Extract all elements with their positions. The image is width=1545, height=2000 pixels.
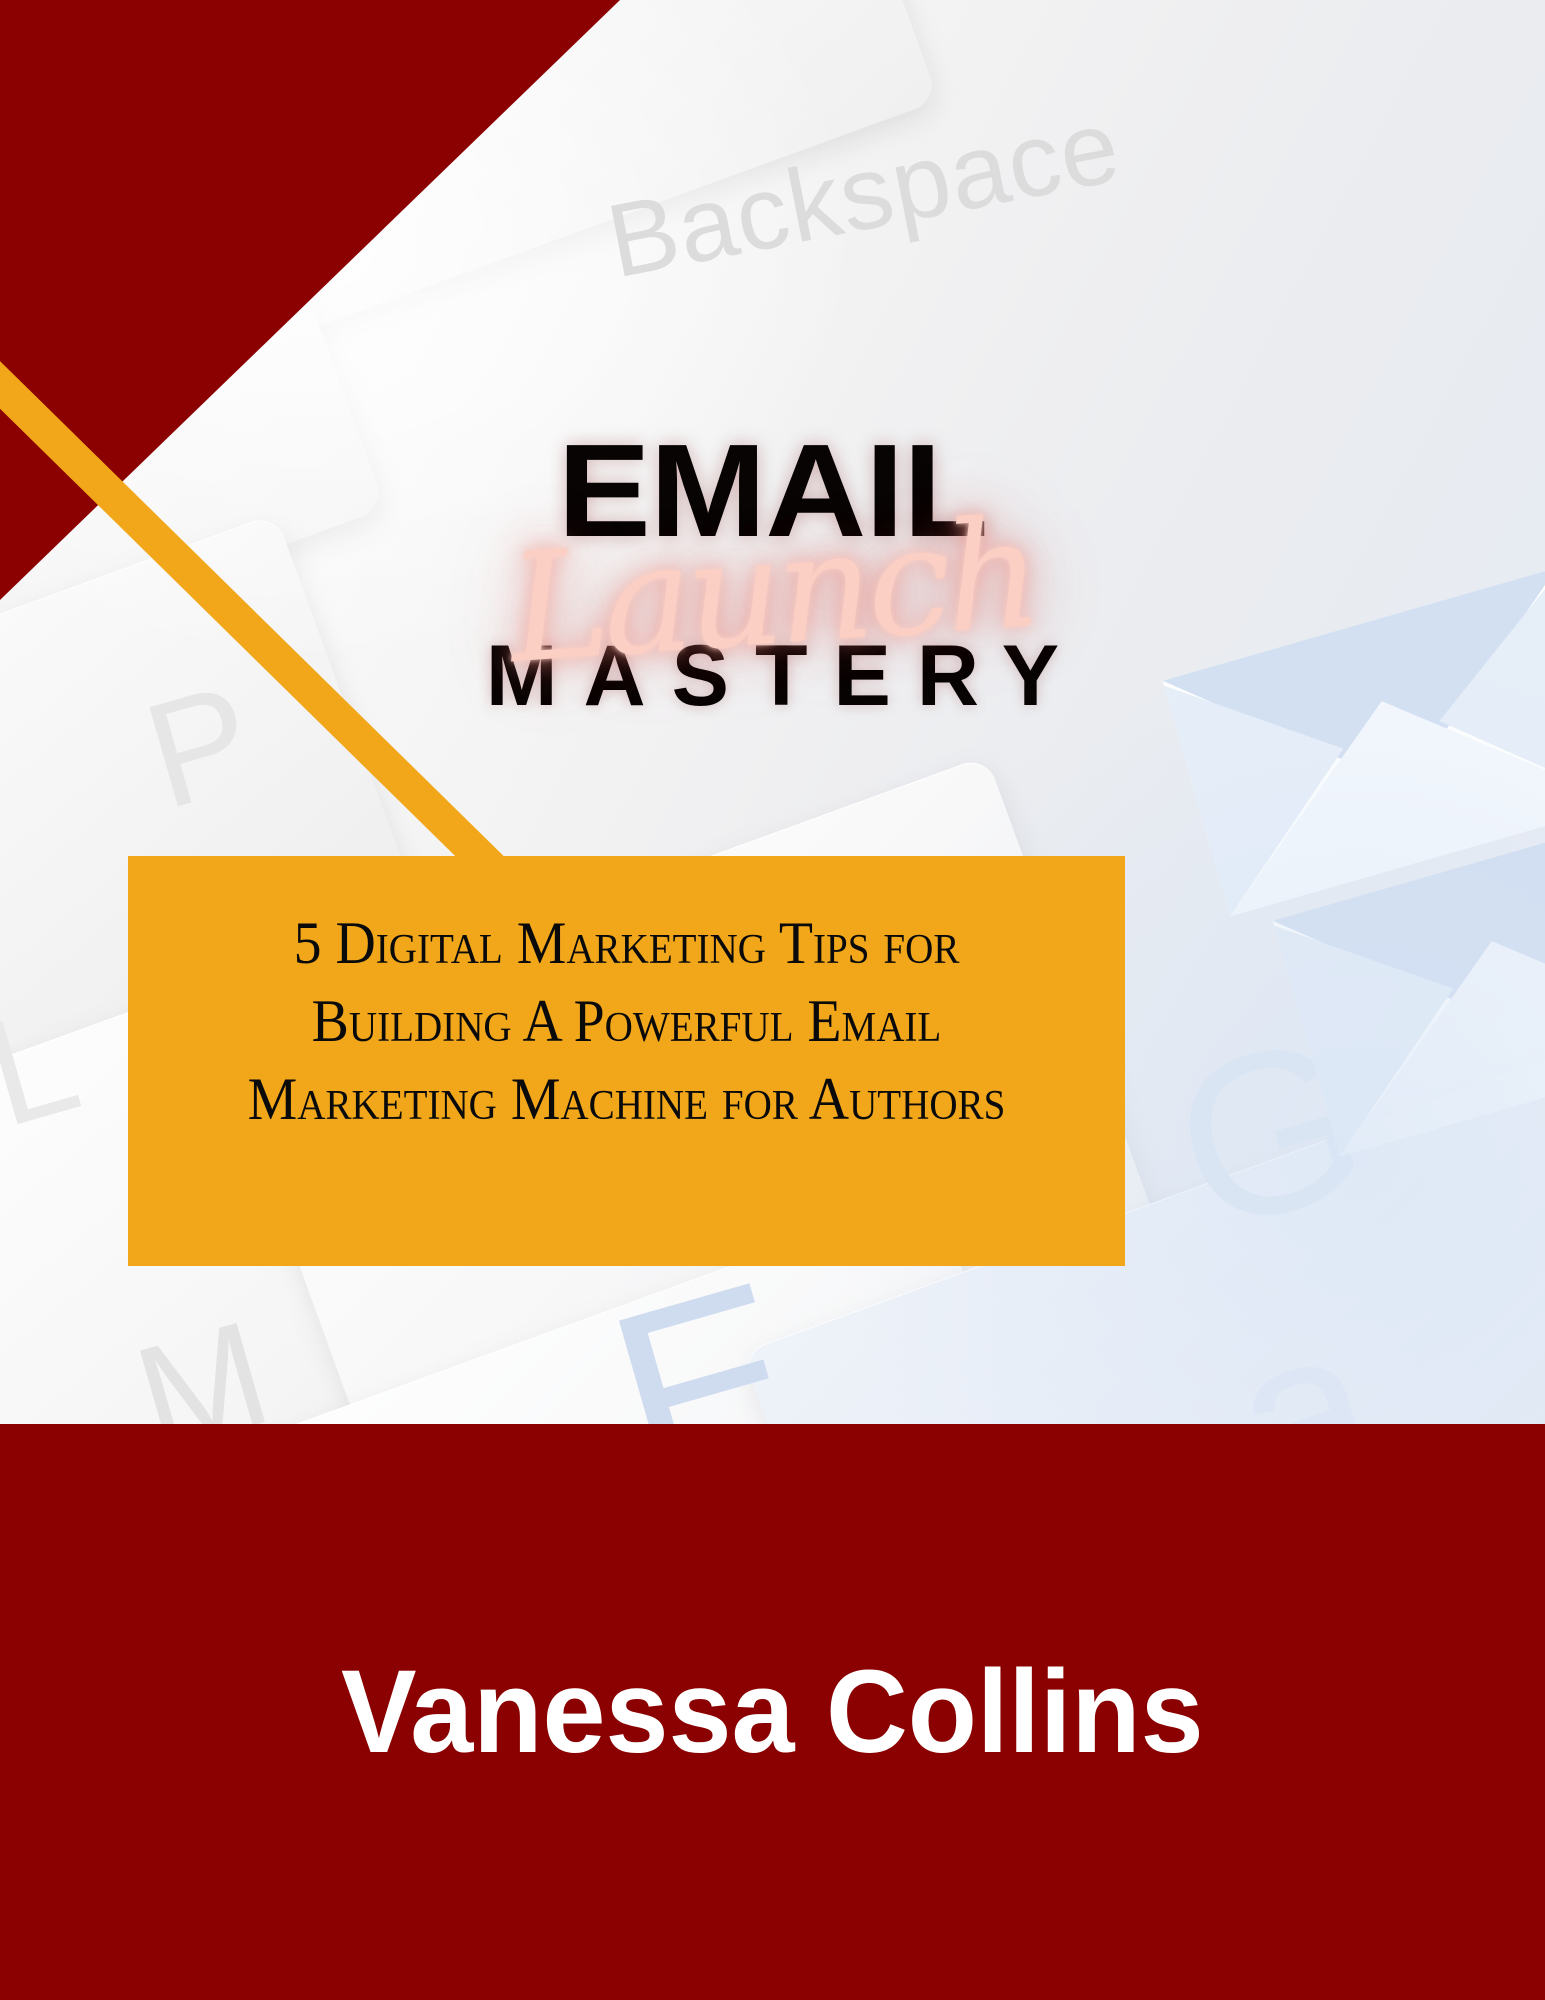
- author-bar: Vanessa Collins: [0, 1424, 1545, 2000]
- subtitle-box: 5 Digital Marketing Tips for Building A …: [128, 856, 1125, 1266]
- subtitle-text: 5 Digital Marketing Tips for Building A …: [163, 856, 1090, 1138]
- author-name: Vanessa Collins: [341, 1644, 1204, 1780]
- title-block: EMAIL Launch MASTERY: [0, 430, 1545, 726]
- book-cover: P L M G a E Backspace: [0, 0, 1545, 2000]
